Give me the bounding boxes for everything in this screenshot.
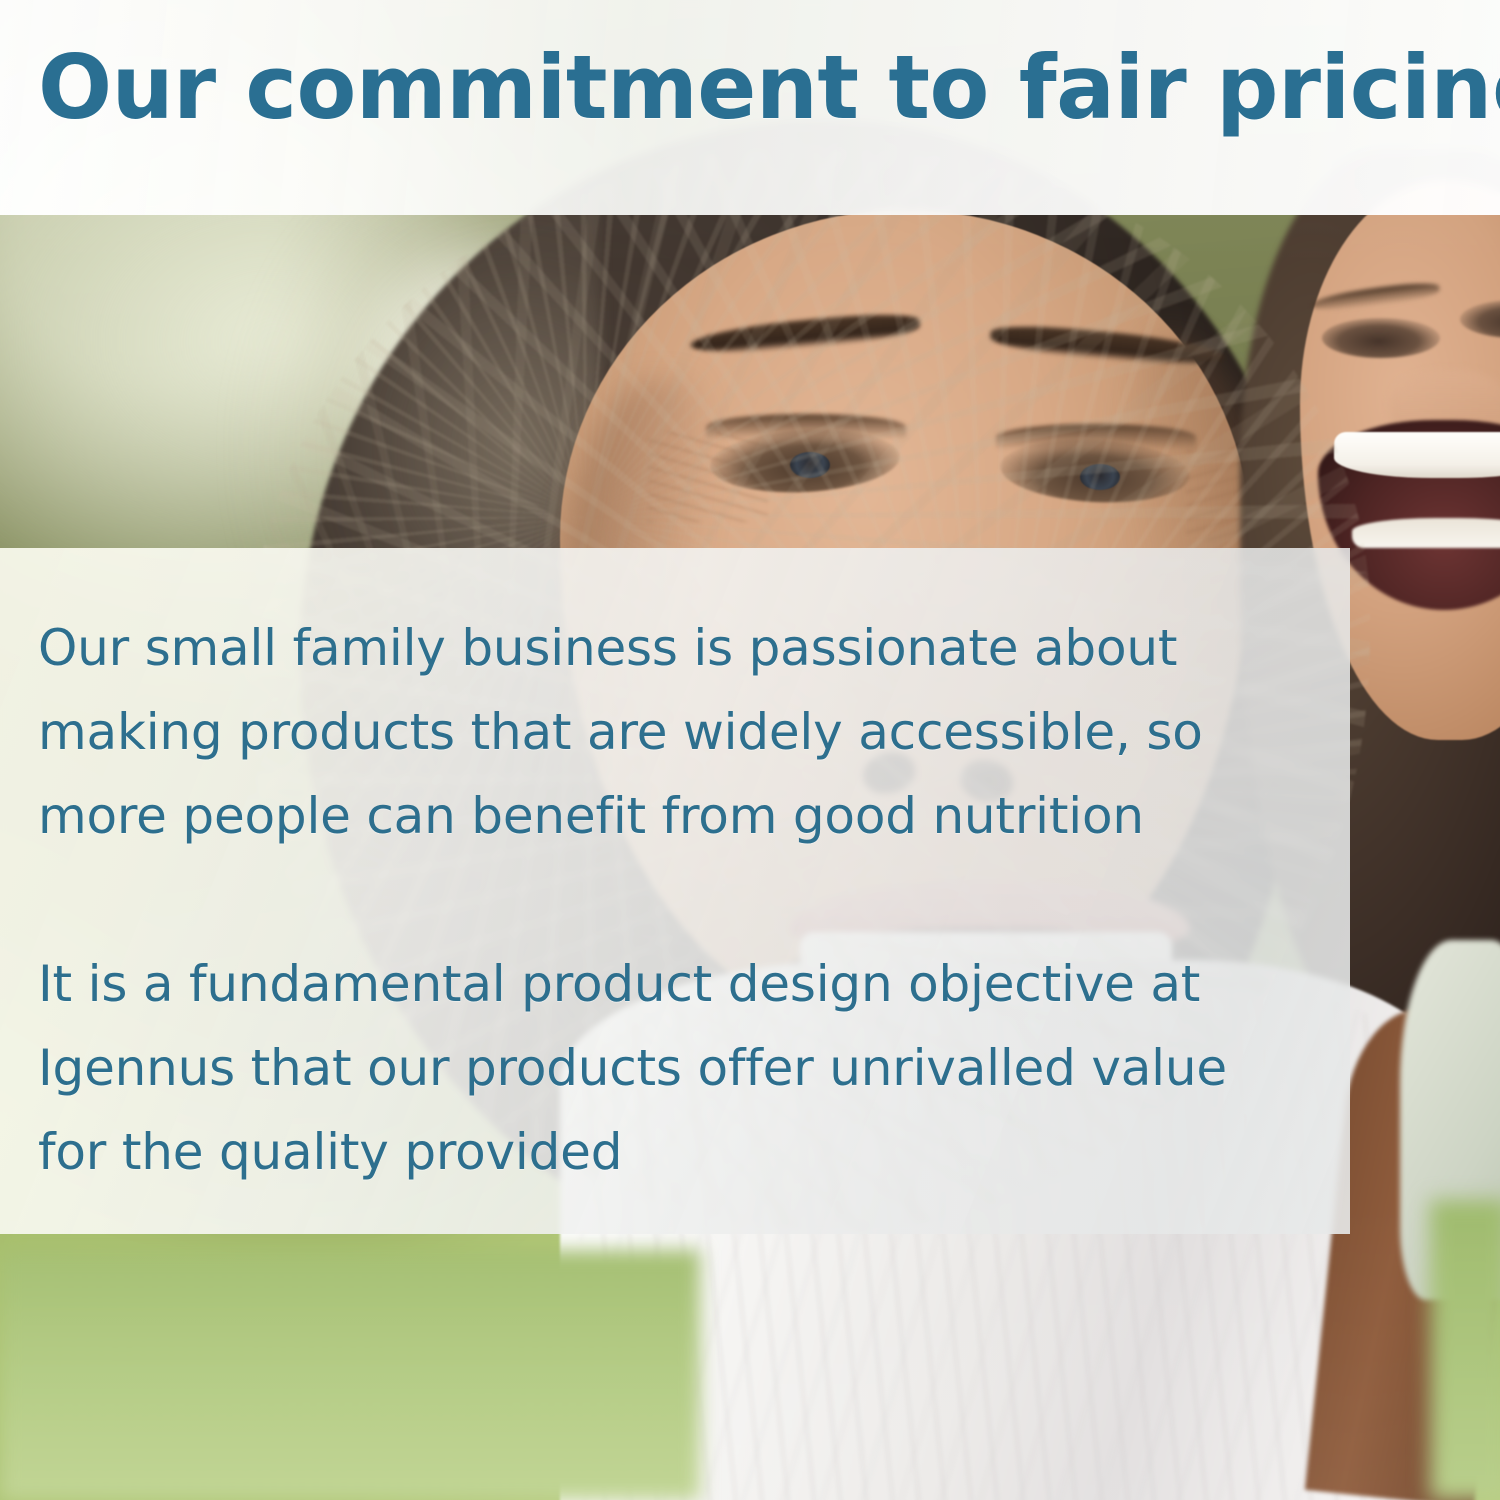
marketing-banner: Our commitment to fair pricing Our small… [0, 0, 1500, 1500]
text-overlay-panel: Our small family business is passionate … [0, 548, 1350, 1234]
grass-foreground-right [1430, 1200, 1500, 1500]
body-paragraph-1: Our small family business is passionate … [38, 606, 1310, 858]
body-paragraph-2: It is a fundamental product design objec… [38, 942, 1310, 1194]
page-title: Our commitment to fair pricing [38, 42, 1464, 134]
child-upper-teeth [1334, 432, 1500, 478]
child-eye-left [1322, 318, 1440, 358]
child-lower-teeth [1352, 518, 1500, 548]
grass-foreground-left [0, 1250, 700, 1500]
header-band: Our commitment to fair pricing [0, 0, 1500, 215]
